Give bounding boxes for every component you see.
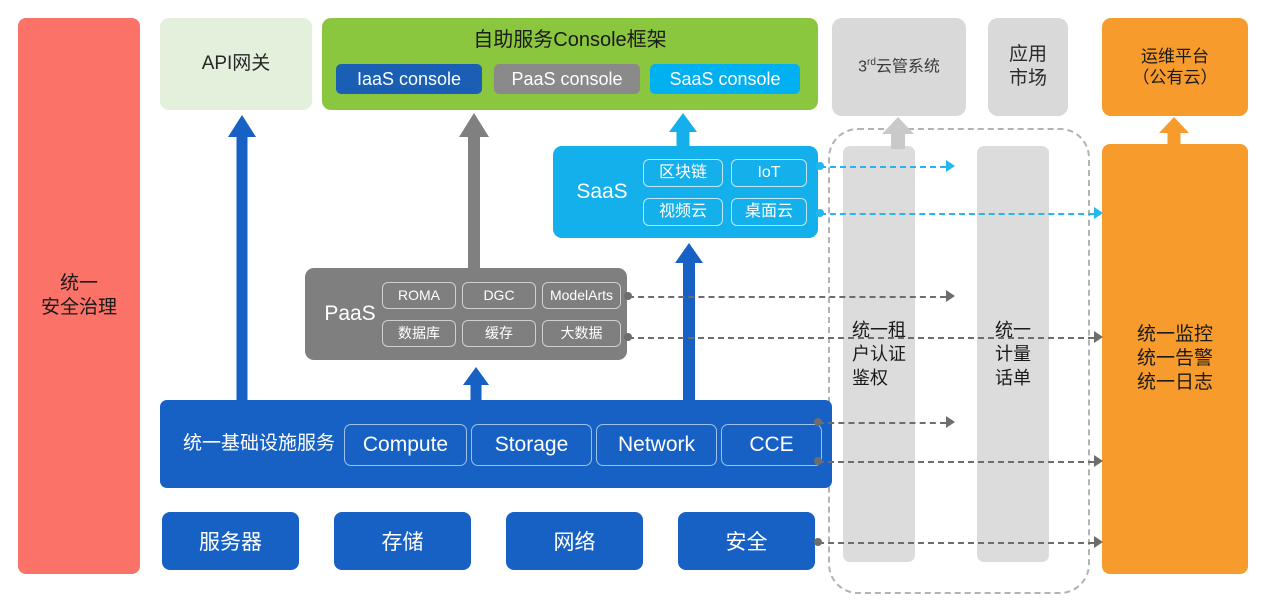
hardware-storage-box[interactable]: 存储 [334, 512, 471, 570]
ops-platform-header-line2: （公有云） [1133, 67, 1218, 88]
third-party-label: 3rd云管系统 [858, 57, 940, 77]
iaas-service-storage[interactable]: Storage [471, 424, 592, 466]
paas-console-chip[interactable]: PaaS console [494, 64, 640, 94]
paas-service-dgc[interactable]: DGC [462, 282, 536, 309]
shared-service-tenant-auth-column[interactable]: 统一租 户认证 鉴权 [843, 146, 915, 562]
conn-iaas-to-metering [818, 422, 946, 424]
arrow-iaas-to-api-gateway [228, 115, 256, 402]
iaas-layer-label: 统一基础设施服务 [174, 400, 344, 488]
arrow-iaas-to-paas [463, 367, 489, 402]
paas-service-bigdata[interactable]: 大数据 [542, 320, 621, 347]
conn-arrowhead-paas-ops [1094, 331, 1103, 343]
arrow-saas-to-saas-console [669, 113, 697, 149]
saas-layer-label: SaaS [563, 146, 641, 238]
saas-console-chip[interactable]: SaaS console [650, 64, 800, 94]
paas-service-cache[interactable]: 缓存 [462, 320, 536, 347]
paas-layer-box[interactable]: PaaS ROMA DGC ModelArts 数据库 缓存 大数据 [305, 268, 627, 360]
ops-platform-line1: 统一监控 [1137, 323, 1213, 347]
saas-service-iot[interactable]: IoT [731, 159, 807, 187]
hardware-security-box[interactable]: 安全 [678, 512, 815, 570]
shared-service-metering-column[interactable]: 统一 计量 话单 [977, 146, 1049, 562]
tenant-auth-line2: 户认证 [852, 342, 906, 366]
metering-line2: 计量 [995, 342, 1031, 366]
metering-line3: 话单 [995, 366, 1031, 390]
conn-iaas-to-ops-platform [818, 461, 1094, 463]
third-party-cloud-mgmt-box[interactable]: 3rd云管系统 [832, 18, 966, 116]
iaas-service-cce[interactable]: CCE [721, 424, 822, 466]
api-gateway-label: API网关 [202, 52, 271, 76]
ops-platform-line3: 统一日志 [1137, 371, 1213, 395]
arrow-shared-to-ops-platform [1159, 117, 1189, 147]
conn-paas-to-ops-platform [628, 337, 1094, 339]
hardware-network-box[interactable]: 网络 [506, 512, 643, 570]
app-market-box[interactable]: 应用 市场 [988, 18, 1068, 116]
paas-layer-label: PaaS [313, 268, 387, 360]
app-market-line1: 应用 [1009, 43, 1047, 67]
conn-arrowhead-hardware-ops [1094, 536, 1103, 548]
api-gateway-box[interactable]: API网关 [160, 18, 312, 110]
conn-paas-to-tenant-auth [628, 296, 946, 298]
conn-arrowhead-iaas-ops [1094, 455, 1103, 467]
security-governance-line2: 安全治理 [41, 296, 117, 320]
ops-platform-header-line1: 运维平台 [1133, 46, 1218, 67]
conn-hardware-to-ops-platform [818, 542, 1094, 544]
conn-saas-to-tenant-auth [820, 166, 946, 168]
iaas-service-network[interactable]: Network [596, 424, 717, 466]
console-framework-title: 自助服务Console框架 [322, 28, 818, 53]
saas-layer-box[interactable]: SaaS 区块链 IoT 视频云 桌面云 [553, 146, 818, 238]
saas-service-desktop-cloud[interactable]: 桌面云 [731, 198, 807, 226]
arrow-paas-to-console [459, 113, 489, 271]
paas-service-database[interactable]: 数据库 [382, 320, 456, 347]
saas-service-blockchain[interactable]: 区块链 [643, 159, 723, 187]
architecture-diagram: 统一 安全治理 API网关 自助服务Console框架 IaaS console… [0, 0, 1265, 605]
arrow-iaas-to-saas [675, 243, 703, 402]
tenant-auth-line3: 鉴权 [852, 366, 906, 390]
security-governance-column[interactable]: 统一 安全治理 [18, 18, 140, 574]
conn-arrowhead-paas-auth [946, 290, 955, 302]
ops-platform-header-box[interactable]: 运维平台 （公有云） [1102, 18, 1248, 116]
hardware-server-box[interactable]: 服务器 [162, 512, 299, 570]
paas-service-modelarts[interactable]: ModelArts [542, 282, 621, 309]
iaas-service-compute[interactable]: Compute [344, 424, 467, 466]
console-framework-box[interactable]: 自助服务Console框架 IaaS console PaaS console … [322, 18, 818, 110]
ops-platform-line2: 统一告警 [1137, 347, 1213, 371]
conn-arrowhead-saas-auth [946, 160, 955, 172]
arrow-shared-to-third-party [882, 117, 914, 149]
iaas-console-chip[interactable]: IaaS console [336, 64, 482, 94]
security-governance-line1: 统一 [41, 272, 117, 296]
app-market-line2: 市场 [1009, 67, 1047, 91]
conn-saas-to-ops-platform [820, 213, 1094, 215]
saas-service-video-cloud[interactable]: 视频云 [643, 198, 723, 226]
iaas-layer-box[interactable]: 统一基础设施服务 Compute Storage Network CCE [160, 400, 832, 488]
ops-platform-body-box[interactable]: 统一监控 统一告警 统一日志 [1102, 144, 1248, 574]
paas-service-roma[interactable]: ROMA [382, 282, 456, 309]
conn-arrowhead-saas-ops [1094, 207, 1103, 219]
conn-arrowhead-iaas-metering [946, 416, 955, 428]
